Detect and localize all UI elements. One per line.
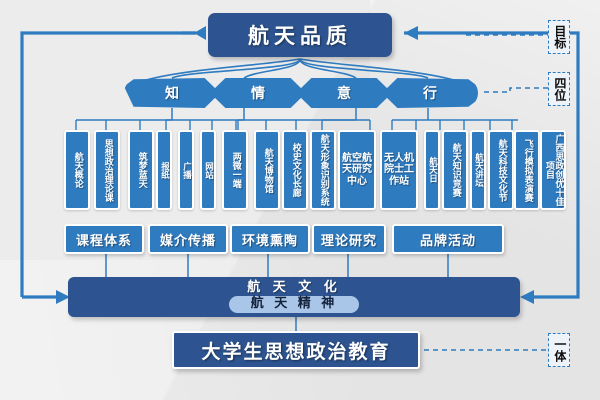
aspect-zhi[interactable]: 知 bbox=[124, 78, 220, 108]
culture-line-1: 航 天 文 化 bbox=[247, 281, 341, 295]
category-kecheng[interactable]: 课程体系 bbox=[64, 224, 144, 254]
leaf-item[interactable]: 航天概论 bbox=[64, 130, 90, 210]
main-title-text: 航天品质 bbox=[248, 20, 352, 50]
foundation-box: 大学生思想政治教育 bbox=[172, 331, 420, 369]
leaf-item[interactable]: 无人机院士工作站 bbox=[380, 130, 418, 210]
aspect-qing[interactable]: 情 bbox=[210, 78, 306, 108]
four-aspects-band: 知 情 意 行 bbox=[124, 78, 476, 108]
leaf-item[interactable]: 航天博物馆 bbox=[254, 130, 280, 210]
aspect-xing[interactable]: 行 bbox=[382, 78, 478, 108]
category-meijie[interactable]: 媒介传播 bbox=[148, 224, 228, 254]
diagram-canvas: 航天品质 知 情 意 行 航天概论 思想政治理论课 筑梦蓝天 报纸 广播 网站 … bbox=[0, 0, 600, 400]
leaf-item[interactable]: 航天科技文化节 bbox=[488, 130, 514, 210]
leaf-item[interactable]: 航天形象识别系统 bbox=[310, 130, 336, 210]
leaf-item[interactable]: 广西思政创优十佳项目 bbox=[540, 130, 566, 210]
leaf-item[interactable]: 思想政治理论课 bbox=[94, 130, 120, 210]
aspect-label: 意 bbox=[337, 83, 351, 103]
category-lilun[interactable]: 理论研究 bbox=[312, 224, 386, 254]
culture-bar: 航 天 文 化 航 天 精 神 bbox=[68, 277, 520, 317]
leaf-item[interactable]: 网站 bbox=[200, 130, 216, 210]
aspect-label: 情 bbox=[251, 83, 265, 103]
foundation-text: 大学生思想政治教育 bbox=[201, 337, 390, 364]
side-label-mubiao: 目标 bbox=[548, 20, 570, 54]
aspect-label: 行 bbox=[423, 83, 437, 103]
leaf-item[interactable]: 航天讲坛 bbox=[470, 130, 486, 210]
leaf-item[interactable]: 航空航天研究中心 bbox=[338, 130, 376, 210]
category-pinpai[interactable]: 品牌活动 bbox=[392, 224, 504, 254]
leaf-item[interactable]: 校史文化长廊 bbox=[282, 130, 308, 210]
category-huanjing[interactable]: 环境熏陶 bbox=[230, 224, 310, 254]
main-title-box: 航天品质 bbox=[208, 13, 392, 57]
leaf-item[interactable]: 两微一端 bbox=[222, 130, 248, 210]
leaf-item[interactable]: 飞行模拟表演赛 bbox=[514, 130, 540, 210]
leaf-item[interactable]: 报纸 bbox=[156, 130, 172, 210]
aspect-label: 知 bbox=[165, 83, 179, 103]
leaf-item[interactable]: 航天知识竞赛 bbox=[442, 130, 468, 210]
side-label-siwei: 四位 bbox=[548, 72, 570, 106]
culture-line-2-pill: 航 天 精 神 bbox=[229, 296, 360, 313]
leaf-item[interactable]: 筑梦蓝天 bbox=[128, 130, 154, 210]
leaf-item[interactable]: 广播 bbox=[178, 130, 194, 210]
side-label-yiti: 一体 bbox=[548, 333, 570, 367]
leaf-item[interactable]: 航天日 bbox=[424, 130, 440, 210]
aspect-yi[interactable]: 意 bbox=[296, 78, 392, 108]
